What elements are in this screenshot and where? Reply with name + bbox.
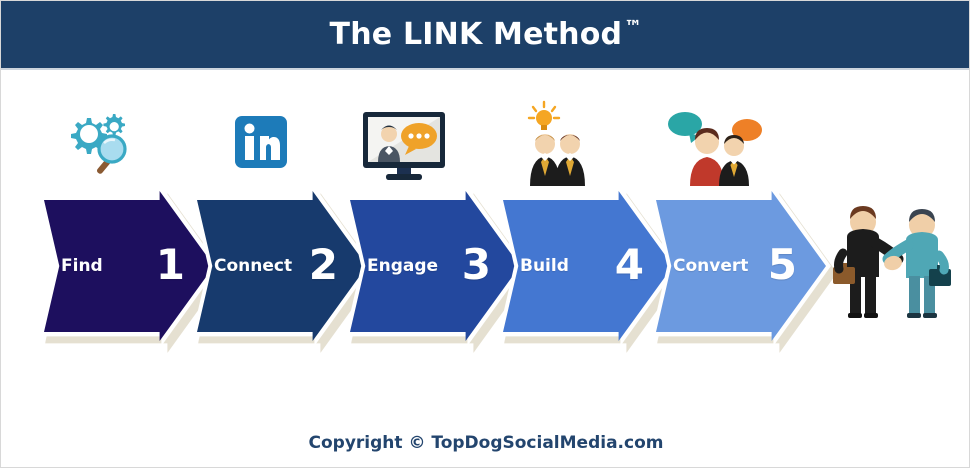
flow-step-5[interactable]: Convert 5: [651, 186, 831, 346]
two-businessmen-idea-icon: [520, 100, 606, 186]
header-divider: [1, 68, 970, 70]
header-band: The LINK Method™: [1, 1, 970, 68]
monitor-chat-icon: [357, 108, 453, 184]
copyright-text: Copyright © TopDogSocialMedia.com: [309, 433, 664, 453]
page-title-text: The LINK Method: [330, 17, 623, 52]
gears-magnifier-icon: [57, 106, 143, 182]
process-flow: Find 1: [1, 186, 970, 356]
diagram-page: The LINK Method™ Find 1: [0, 0, 970, 468]
page-title: The LINK Method™: [330, 17, 643, 52]
trademark-symbol: ™: [624, 17, 642, 38]
linkedin-icon: [218, 110, 304, 186]
footer: Copyright © TopDogSocialMedia.com: [1, 433, 970, 453]
handshake-businessmen-icon: [827, 197, 957, 322]
two-people-speech-bubbles-icon: [665, 106, 767, 182]
